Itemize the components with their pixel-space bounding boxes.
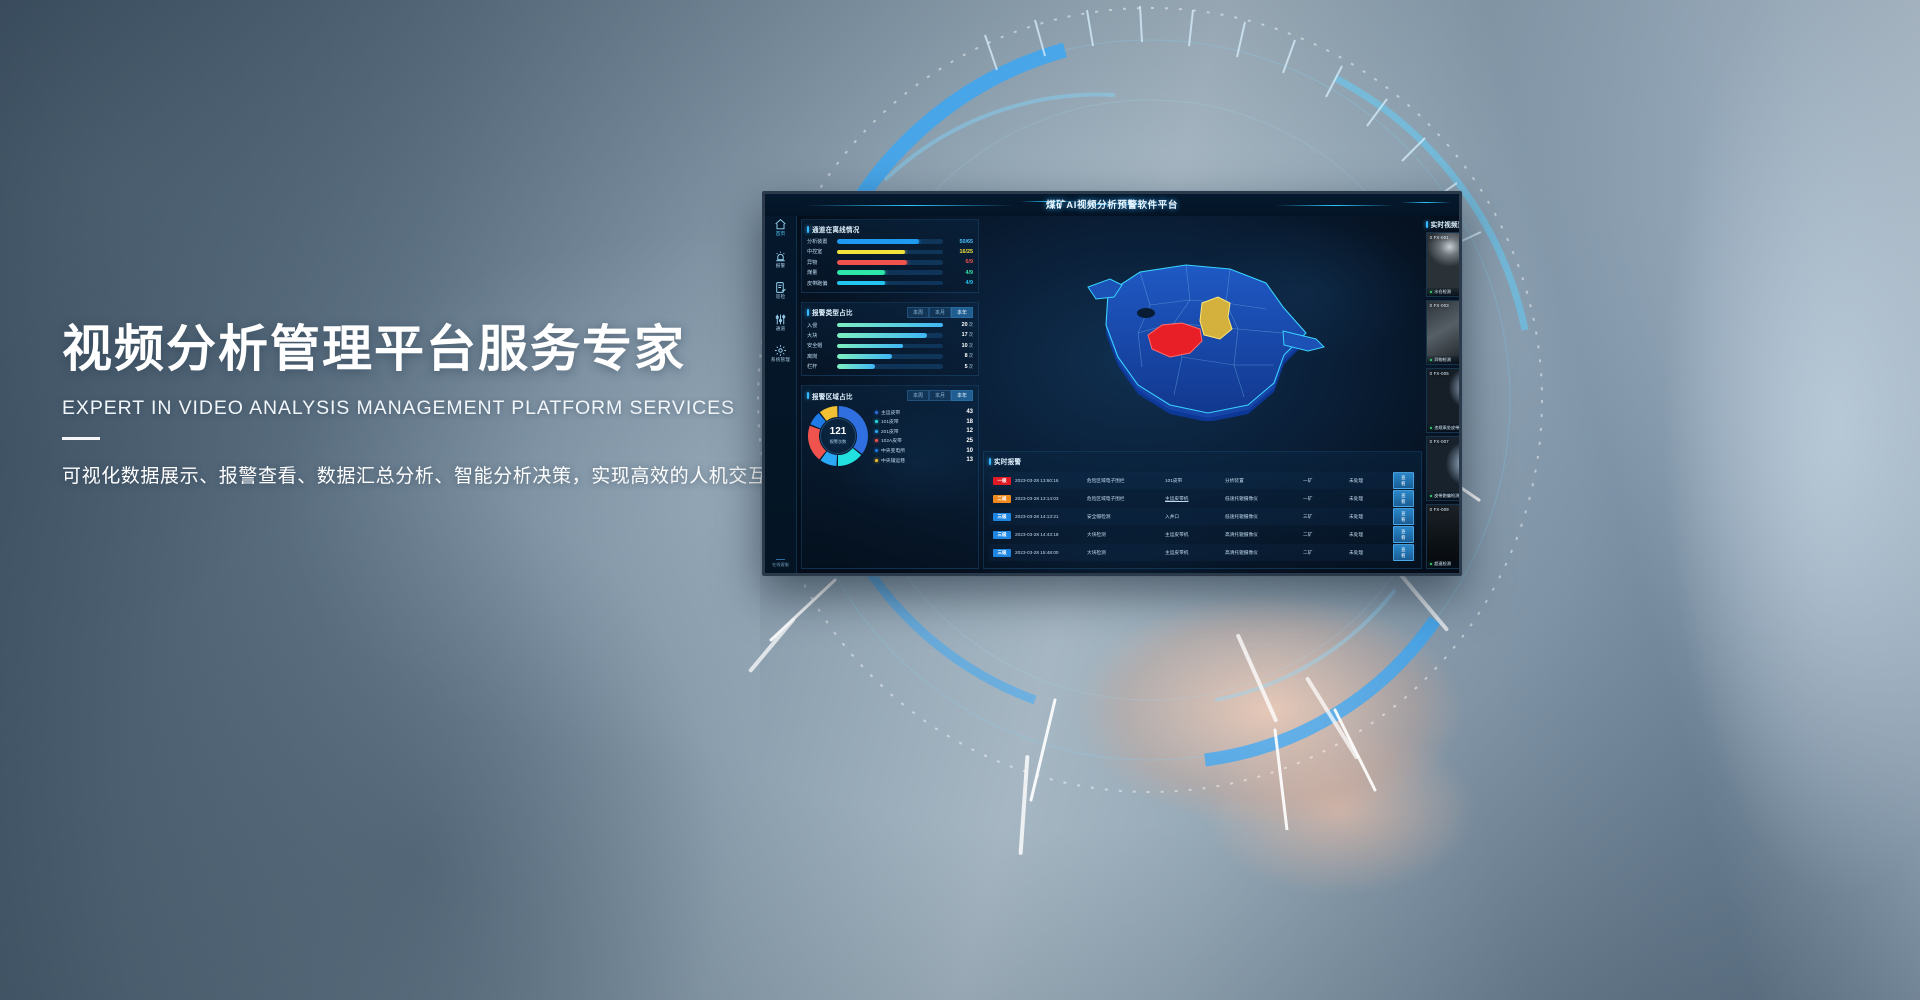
channel-row: 皮带跑偏4/9 [807, 280, 973, 287]
dashboard-sidebar: 首页 报警 巡检 通道 [765, 194, 797, 573]
cell-area: 101皮带 [1165, 478, 1225, 484]
channel-track [837, 260, 943, 265]
right-column: 实时视频监控 上一页 下一页 0 FX-001水仓检测15:20:300 FX-… [1426, 219, 1462, 569]
donut-center: 121 报警次数 [820, 418, 856, 454]
dashboard-screen: 煤矿AI视频分析预警软件平台 首页 报警 巡检 [765, 194, 1459, 573]
sidebar-footer-label: 在线客服 [772, 562, 789, 568]
camera-id: 0 FX-005 [1430, 371, 1449, 376]
sidebar-label: 首页 [776, 232, 786, 237]
view-button[interactable]: 查看 [1393, 490, 1416, 507]
status-badge: 三级 [989, 531, 1015, 539]
alarm-type-label: 入侵 [807, 322, 833, 329]
hero-subtitle: EXPERT IN VIDEO ANALYSIS MANAGEMENT PLAT… [62, 397, 762, 420]
status-badge: 一级 [989, 477, 1015, 485]
alarm-type-label: 大块 [807, 332, 833, 339]
alarm-type-fill [837, 354, 892, 359]
video-cell[interactable]: 0 FX-001水仓检测15:20:30 [1426, 232, 1462, 297]
video-grid: 0 FX-001水仓检测15:20:300 FX-002智能化通检测15:20:… [1426, 232, 1462, 569]
video-thumbnail [1427, 233, 1462, 296]
cell-grade: 三矿 [1303, 514, 1349, 520]
legend-value: 43 [966, 409, 973, 415]
sidebar-item-alarm[interactable]: 报警 [766, 250, 796, 269]
channel-value: 4/9 [947, 270, 973, 276]
cell-grade: 一矿 [1303, 478, 1349, 484]
channel-fill [837, 281, 885, 286]
sidebar-label: 报警 [776, 264, 786, 269]
cell-type: 安全帽检测 [1087, 514, 1165, 520]
camera-id: 0 FX-009 [1430, 507, 1449, 512]
panel-title: 通道在离线情况 [807, 224, 860, 234]
cell-grade: 二矿 [1303, 532, 1349, 538]
alarm-icon [774, 250, 787, 263]
legend-label: 主运皮带 [881, 409, 963, 416]
alarm-type-fill [837, 364, 875, 369]
video-footer: 异物检测15:20:30 [1427, 356, 1462, 364]
cell-area: 主运皮带机 [1165, 496, 1225, 502]
online-status-dot [1430, 563, 1433, 566]
status-badge: 三级 [989, 549, 1015, 557]
online-status-dot [1430, 495, 1433, 498]
legend-value: 13 [966, 457, 973, 463]
cell-area: 主运皮带机 [1165, 550, 1225, 556]
cell-status: 未处理 [1349, 514, 1393, 520]
video-footer: 超速检测15:20:30 [1427, 560, 1462, 568]
alarm-type-fill [837, 323, 943, 328]
app-title: 煤矿AI视频分析预警软件平台 [1046, 197, 1178, 211]
tab-alarm-type-2[interactable]: 本年 [951, 307, 973, 318]
legend-item[interactable]: 201皮带12 [875, 428, 973, 435]
donut-total: 121 [830, 427, 847, 437]
alarm-type-track [837, 354, 943, 359]
cell-area: 主运皮带机 [1165, 532, 1225, 538]
view-button[interactable]: 查看 [1393, 508, 1416, 525]
camera-id: 0 FX-007 [1430, 439, 1449, 444]
home-icon [774, 218, 787, 231]
channel-row: 中控室16/25 [807, 248, 973, 255]
gear-icon [774, 344, 787, 357]
video-thumbnail [1427, 505, 1462, 568]
center-column: 实时报警 一级2023-03-28 13:60:16危险区域电子围栏101皮带分… [983, 219, 1422, 569]
alarm-type-row-list: 入侵20次大块17次安全帽10次离岗8次栏杆5次 [807, 322, 973, 371]
channel-icon [774, 313, 787, 326]
cell-device: 低速托辊摄像仪 [1225, 514, 1303, 520]
cell-status: 未处理 [1349, 550, 1393, 556]
alarm-type-tabs[interactable]: 本周本月本年 [907, 307, 973, 318]
camera-name: 异物检测 [1434, 357, 1462, 363]
video-cell[interactable]: 0 FX-009超速检测15:20:30 [1426, 504, 1462, 569]
cell-time: 2023-03-28 13:60:16 [1015, 478, 1087, 483]
cell-type: 大块检测 [1087, 532, 1165, 538]
sidebar-item-channel[interactable]: 通道 [766, 313, 796, 332]
hero-description: 可视化数据展示、报警查看、数据汇总分析、智能分析决策，实现高效的人机交互 [62, 461, 762, 488]
channel-track [837, 281, 943, 286]
channel-label: 异物 [807, 259, 833, 266]
monitor-frame: 煤矿AI视频分析预警软件平台 首页 报警 巡检 [762, 191, 1462, 576]
legend-dot [875, 449, 878, 452]
cell-type: 危险区域电子围栏 [1087, 478, 1165, 484]
donut-segment[interactable] [815, 417, 822, 426]
channel-track [837, 270, 943, 275]
sidebar-label: 通道 [776, 327, 786, 332]
sidebar-item-home[interactable]: 首页 [766, 218, 796, 237]
channel-fill [837, 239, 919, 244]
donut-chart[interactable]: 121 报警次数 [807, 405, 869, 467]
tab-alarm-type-0[interactable]: 本周 [907, 307, 929, 318]
alarm-table: 一级2023-03-28 13:60:16危险区域电子围栏101皮带分析装置一矿… [989, 472, 1416, 563]
alarm-type-track [837, 344, 943, 349]
camera-id: 0 FX-003 [1430, 303, 1449, 308]
channel-row: 异物6/9 [807, 259, 973, 266]
alarm-type-track [837, 323, 943, 328]
alarm-type-fill [837, 333, 927, 338]
panel-title: 实时视频监控 [1426, 219, 1462, 229]
dashboard-topbar: 煤矿AI视频分析预警软件平台 [765, 194, 1459, 216]
sidebar-label: 巡检 [776, 295, 786, 300]
legend-item[interactable]: 主运皮带43 [875, 409, 973, 416]
online-status-dot [1430, 359, 1433, 362]
online-status-dot [1430, 427, 1433, 430]
video-thumbnail [1427, 437, 1462, 500]
channel-label: 中控室 [807, 248, 833, 255]
channel-value: 4/9 [947, 280, 973, 286]
online-status-dot [1430, 291, 1433, 294]
cell-status: 未处理 [1349, 478, 1393, 484]
alarm-type-track [837, 364, 943, 369]
panel-title: 报警区域占比 [807, 391, 853, 401]
channel-value: 16/25 [947, 249, 973, 255]
alarm-type-label: 安全帽 [807, 342, 833, 349]
table-row[interactable]: 三级2023-03-28 14:13:21安全帽检测入井口低速托辊摄像仪三矿未处… [989, 508, 1416, 525]
channel-value: 6/9 [947, 259, 973, 265]
hero-text-block: 视频分析管理平台服务专家 EXPERT IN VIDEO ANALYSIS MA… [62, 318, 762, 488]
cell-type: 危险区域电子围栏 [1087, 496, 1165, 502]
cell-grade: 二矿 [1303, 550, 1349, 556]
cell-time: 2023-03-28 14:13:21 [1015, 514, 1087, 519]
camera-name: 违规乘坐皮带 [1434, 425, 1462, 431]
table-row[interactable]: 三级2023-03-28 15:48:00大块检测主运皮带机高清托辊摄像仪二矿未… [989, 544, 1416, 561]
alarm-type-value: 8次 [947, 353, 973, 359]
channel-status-panel: 通道在离线情况 分析装置50/65中控室16/25异物6/9煤量4/9皮带跑偏4… [801, 219, 979, 293]
alarm-type-value: 5次 [947, 364, 973, 370]
sidebar-label: 系统管理 [771, 358, 790, 363]
legend-label: 中央变电所 [881, 447, 963, 454]
sidebar-item-system[interactable]: 系统管理 [766, 344, 796, 363]
video-cell[interactable]: 0 FX-007皮带跑偏检测15:20:30 [1426, 436, 1462, 501]
sidebar-footer-bar [776, 559, 785, 561]
legend-value: 10 [966, 448, 973, 454]
legend-item[interactable]: 102A皮带25 [875, 437, 973, 444]
legend-value: 18 [966, 419, 973, 425]
panel-header: 通道在离线情况 [807, 224, 973, 234]
donut-total-caption: 报警次数 [830, 439, 847, 445]
video-thumbnail [1427, 369, 1462, 432]
alarm-type-row: 入侵20次 [807, 322, 973, 329]
legend-value: 12 [966, 428, 973, 434]
cell-device: 高清托辊摄像仪 [1225, 532, 1303, 538]
alarm-type-value: 20次 [947, 322, 973, 328]
cell-area: 入井口 [1165, 514, 1225, 520]
tab-alarm-area-1[interactable]: 本月 [929, 390, 951, 401]
channel-fill [837, 260, 907, 265]
channel-label: 皮带跑偏 [807, 280, 833, 287]
video-thumbnail [1427, 301, 1462, 364]
donut-chart-wrapper: 121 报警次数 主运皮带43101皮带18201皮带12102A皮带25中央变… [807, 405, 973, 467]
camera-id: 0 FX-001 [1430, 235, 1449, 240]
cell-device: 低速托辊摄像仪 [1225, 496, 1303, 502]
dashboard-main: 通道在离线情况 分析装置50/65中控室16/25异物6/9煤量4/9皮带跑偏4… [797, 194, 1462, 573]
map-hole [1137, 308, 1155, 318]
alarm-type-value: 17次 [947, 332, 973, 338]
channel-fill [837, 270, 885, 275]
channel-row: 分析装置50/65 [807, 238, 973, 245]
donut-segment[interactable] [823, 412, 837, 417]
panel-header: 报警区域占比 本周本月本年 [807, 390, 973, 401]
channel-value: 50/65 [947, 239, 973, 245]
tab-alarm-type-1[interactable]: 本月 [929, 307, 951, 318]
panel-title: 实时报警 [989, 456, 1021, 466]
alarm-type-row: 安全帽10次 [807, 342, 973, 349]
inspection-icon [774, 281, 787, 294]
alarm-type-row: 离岗8次 [807, 353, 973, 360]
camera-name: 超速检测 [1434, 561, 1462, 567]
alarm-type-fill [837, 344, 903, 349]
channel-row: 煤量4/9 [807, 269, 973, 276]
realtime-alarm-panel: 实时报警 一级2023-03-28 13:60:16危险区域电子围栏101皮带分… [983, 451, 1422, 569]
table-row[interactable]: 一级2023-03-28 13:60:16危险区域电子围栏101皮带分析装置一矿… [989, 472, 1416, 489]
legend-label: 201皮带 [881, 428, 963, 435]
legend-label: 102A皮带 [881, 437, 963, 444]
channel-row-list: 分析装置50/65中控室16/25异物6/9煤量4/9皮带跑偏4/9 [807, 238, 973, 287]
map-region-highlight-yellow[interactable] [1200, 297, 1232, 339]
view-button[interactable]: 查看 [1393, 526, 1416, 543]
legend-dot [875, 430, 878, 433]
channel-label: 分析装置 [807, 238, 833, 245]
view-button[interactable]: 查看 [1393, 544, 1416, 561]
panel-header: 实时报警 [989, 456, 1416, 466]
alarm-type-value: 10次 [947, 343, 973, 349]
sidebar-footer[interactable]: 在线客服 [772, 559, 789, 569]
tab-alarm-area-0[interactable]: 本周 [907, 390, 929, 401]
sidebar-item-inspection[interactable]: 巡检 [766, 281, 796, 300]
legend-dot [875, 439, 878, 442]
cell-type: 大块检测 [1087, 550, 1165, 556]
alarm-area-panel: 报警区域占比 本周本月本年 121 报警次数 主运皮带43101皮带18201皮… [801, 385, 979, 569]
cell-time: 2023-03-28 13:14:03 [1015, 496, 1087, 501]
province-map[interactable] [1078, 245, 1326, 421]
left-column: 通道在离线情况 分析装置50/65中控室16/25异物6/9煤量4/9皮带跑偏4… [801, 219, 979, 569]
alarm-type-row: 栏杆5次 [807, 363, 973, 370]
panel-header: 报警类型占比 本周本月本年 [807, 307, 973, 318]
legend-item[interactable]: 101皮带18 [875, 418, 973, 425]
tab-alarm-area-2[interactable]: 本年 [951, 390, 973, 401]
alarm-type-label: 离岗 [807, 353, 833, 360]
legend-dot [875, 459, 878, 462]
donut-segment[interactable] [824, 456, 837, 461]
video-footer: 违规乘坐皮带15:20:30 [1427, 424, 1462, 432]
cell-grade: 一矿 [1303, 496, 1349, 502]
status-badge: 二级 [989, 495, 1015, 503]
video-cell[interactable]: 0 FX-003异物检测15:20:30 [1426, 300, 1462, 365]
alarm-area-tabs[interactable]: 本周本月本年 [907, 390, 973, 401]
video-cell[interactable]: 0 FX-005违规乘坐皮带15:20:30 [1426, 368, 1462, 433]
cell-time: 2023-03-28 15:48:00 [1015, 550, 1087, 555]
channel-label: 煤量 [807, 269, 833, 276]
channel-fill [837, 250, 905, 255]
donut-legend: 主运皮带43101皮带18201皮带12102A皮带25中央变电所10中央辅运巷… [873, 409, 973, 464]
cell-status: 未处理 [1349, 532, 1393, 538]
alarm-type-track [837, 333, 943, 338]
alarm-type-row: 大块17次 [807, 332, 973, 339]
video-panel-header: 实时视频监控 上一页 下一页 [1426, 219, 1462, 229]
camera-name: 皮带跑偏检测 [1434, 493, 1462, 499]
status-badge: 三级 [989, 513, 1015, 521]
cell-device: 高清托辊摄像仪 [1225, 550, 1303, 556]
legend-dot [875, 411, 878, 414]
alarm-type-label: 栏杆 [807, 363, 833, 370]
alarm-type-panel: 报警类型占比 本周本月本年 入侵20次大块17次安全帽10次离岗8次栏杆5次 [801, 302, 979, 377]
map-area[interactable] [983, 219, 1422, 446]
page-title: 视频分析管理平台服务专家 [62, 318, 762, 381]
table-row[interactable]: 三级2023-03-28 14:43:18大块检测主运皮带机高清托辊摄像仪二矿未… [989, 526, 1416, 543]
hero-divider [62, 437, 100, 440]
legend-item[interactable]: 中央变电所10 [875, 447, 973, 454]
channel-track [837, 250, 943, 255]
panel-title: 报警类型占比 [807, 307, 853, 317]
table-row[interactable]: 二级2023-03-28 13:14:03危险区域电子围栏主运皮带机低速托辊摄像… [989, 490, 1416, 507]
legend-item[interactable]: 中央辅运巷13 [875, 457, 973, 464]
channel-track [837, 239, 943, 244]
legend-dot [875, 420, 878, 423]
video-footer: 皮带跑偏检测15:20:30 [1427, 492, 1462, 500]
view-button[interactable]: 查看 [1393, 472, 1416, 489]
legend-label: 中央辅运巷 [881, 457, 963, 464]
legend-label: 101皮带 [881, 418, 963, 425]
video-footer: 水仓检测15:20:30 [1427, 288, 1462, 296]
camera-name: 水仓检测 [1434, 289, 1462, 295]
cell-device: 分析装置 [1225, 478, 1303, 484]
cell-time: 2023-03-28 14:43:18 [1015, 532, 1087, 537]
cell-status: 未处理 [1349, 496, 1393, 502]
legend-value: 25 [966, 438, 973, 444]
